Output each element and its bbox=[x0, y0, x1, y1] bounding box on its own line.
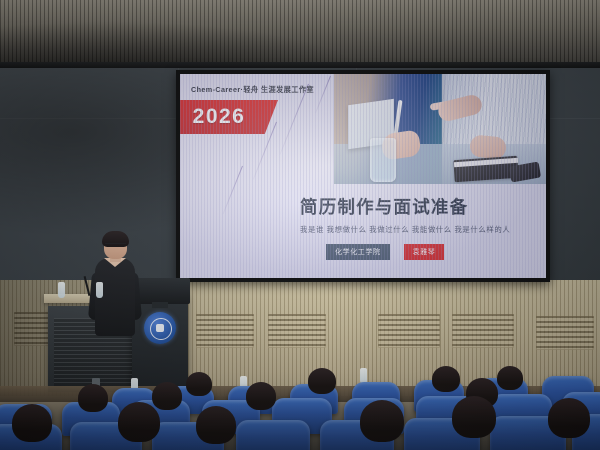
audience-head bbox=[78, 384, 108, 412]
slide-photo bbox=[334, 74, 546, 184]
water-bottle bbox=[58, 282, 65, 298]
audience-seat bbox=[236, 420, 310, 450]
audience-head bbox=[152, 382, 182, 410]
audience-head bbox=[186, 372, 212, 396]
audience-head bbox=[497, 366, 523, 390]
audience-head bbox=[308, 368, 336, 394]
slide-year-text: 2026 bbox=[193, 105, 246, 129]
slide-header-text: Chem-Career·轻舟 生涯发展工作室 bbox=[191, 85, 314, 95]
presentation-slide: Chem-Career·轻舟 生涯发展工作室 2026 简历制作与面试准备 我是… bbox=[180, 74, 546, 278]
projection-screen: Chem-Career·轻舟 生涯发展工作室 2026 简历制作与面试准备 我是… bbox=[176, 70, 550, 282]
slide-badge-speaker: 袁雅琴 bbox=[404, 244, 445, 260]
slide-subtitle: 我是谁 我想做什么 我做过什么 我能做什么 我是什么样的人 bbox=[300, 224, 510, 235]
audience-head bbox=[118, 402, 160, 442]
audience-head bbox=[360, 400, 404, 442]
slide-diagonal-line bbox=[223, 166, 244, 215]
water-bottle bbox=[96, 282, 103, 298]
slide-title: 简历制作与面试准备 bbox=[300, 194, 468, 219]
audience-head bbox=[196, 406, 236, 444]
monitor-stand bbox=[152, 302, 168, 308]
audience-head bbox=[246, 382, 276, 410]
audience-head bbox=[452, 396, 496, 438]
audience-head bbox=[432, 366, 460, 392]
speaker-glasses bbox=[105, 243, 126, 249]
audience-head bbox=[12, 404, 52, 442]
slide-badge-department: 化学化工学院 bbox=[326, 244, 390, 260]
photo-water-glass bbox=[370, 138, 396, 182]
audience-head bbox=[548, 398, 590, 438]
slide-year-banner: 2026 bbox=[180, 100, 278, 134]
lecture-hall-photo: Chem-Career·轻舟 生涯发展工作室 2026 简历制作与面试准备 我是… bbox=[0, 0, 600, 450]
slide-diagonal-line bbox=[315, 76, 331, 114]
university-seal-core bbox=[156, 324, 164, 332]
slide-badge-group: 化学化工学院 袁雅琴 bbox=[326, 244, 444, 260]
ceiling-shadow bbox=[0, 0, 600, 64]
